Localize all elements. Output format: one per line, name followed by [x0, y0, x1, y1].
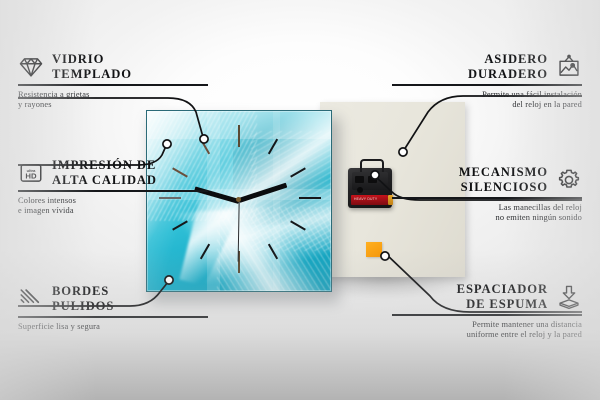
- foam-spacer-side: [380, 243, 385, 257]
- glass-reflection: [207, 111, 220, 291]
- foam-spacer: [366, 242, 382, 257]
- callout-rule: [18, 316, 208, 318]
- callout-rule: [18, 190, 208, 192]
- clock-tick-5: [268, 244, 278, 260]
- mechanism-shaft: [357, 187, 363, 193]
- clock-tick-2: [290, 167, 306, 177]
- feather-streak: [206, 110, 332, 292]
- clock-tick-4: [290, 220, 306, 230]
- callout-subtitle: Permite una fácil instalación del reloj …: [392, 90, 582, 111]
- ultra-hd-big-label: HD: [25, 171, 37, 180]
- connector-dot: [165, 276, 173, 284]
- clock-tick-3: [299, 197, 321, 199]
- callout-subtitle: Colores intensos e imagen vívida: [18, 196, 208, 217]
- battery: HEAVY DUTY: [351, 195, 388, 205]
- connector-dot: [381, 252, 389, 260]
- callout-subtitle: Las manecillas del reloj no emiten ningú…: [392, 203, 582, 224]
- clock-hour-hand: [238, 183, 287, 203]
- gear-icon: [556, 167, 582, 193]
- callout-title: IMPRESIÓN DE ALTA CALIDAD: [52, 158, 157, 187]
- diamond-icon: [18, 54, 44, 80]
- clock-tick-11: [200, 139, 210, 155]
- clock-tick-1: [268, 139, 278, 155]
- callout-impresion-alta-calidad: ultra HD IMPRESIÓN DE ALTA CALIDAD Color…: [18, 158, 208, 217]
- clock-center-pin: [236, 197, 241, 202]
- mechanism-hanger: [360, 159, 384, 172]
- callout-rule: [392, 84, 582, 86]
- callout-title: VIDRIO TEMPLADO: [52, 52, 132, 81]
- polished-edges-icon: [18, 286, 44, 312]
- clock-second-hand: [237, 200, 239, 262]
- connector-dot: [163, 140, 171, 148]
- connector-dot: [200, 135, 208, 143]
- feather-texture: [217, 207, 332, 292]
- callout-asidero-duradero: ASIDERO DURADERO Permite una fácil insta…: [392, 52, 582, 111]
- glass-reflection: [273, 111, 280, 291]
- product-infographic: HEAVY DUTY: [0, 0, 600, 400]
- clock-art-depth: [233, 110, 332, 225]
- mechanism-face: [352, 172, 388, 190]
- callout-subtitle: Resistencia a grietas y rayones: [18, 90, 208, 111]
- clock-tick-6: [238, 251, 240, 273]
- feather-texture: [251, 131, 332, 251]
- callout-title: ASIDERO DURADERO: [468, 52, 548, 81]
- callout-subtitle: Superficie lisa y segura: [18, 322, 208, 333]
- mechanism-detail: [368, 176, 377, 183]
- mechanism-detail: [355, 176, 364, 183]
- hanging-picture-icon: [556, 54, 582, 80]
- callout-title: ESPACIADOR DE ESPUMA: [457, 282, 548, 311]
- callout-title: BORDES PULIDOS: [52, 284, 114, 313]
- callout-title: MECANISMO SILENCIOSO: [459, 165, 548, 194]
- clock-tick-7: [200, 244, 210, 260]
- callout-subtitle: Permite mantener una distancia uniforme …: [392, 320, 582, 341]
- clock-tick-8: [172, 220, 188, 230]
- callout-rule: [392, 197, 582, 199]
- connector-dot: [399, 148, 407, 156]
- callout-espaciador-de-espuma: ESPACIADOR DE ESPUMA Permite mantener un…: [392, 282, 582, 341]
- connector-dot: [371, 171, 379, 179]
- callout-bordes-pulidos: BORDES PULIDOS Superficie lisa y segura: [18, 284, 208, 332]
- battery-label: HEAVY DUTY: [354, 197, 377, 201]
- callout-mecanismo-silencioso: MECANISMO SILENCIOSO Las manecillas del …: [392, 165, 582, 224]
- clock-mechanism: HEAVY DUTY: [348, 168, 392, 208]
- clock-tick-12: [238, 125, 240, 147]
- ultra-hd-icon: ultra HD: [18, 160, 44, 186]
- callout-rule: [18, 84, 208, 86]
- callout-rule: [392, 314, 582, 316]
- foam-spacer-icon: [556, 284, 582, 310]
- callout-vidrio-templado: VIDRIO TEMPLADO Resistencia a grietas y …: [18, 52, 208, 111]
- glass-reflection: [147, 111, 331, 139]
